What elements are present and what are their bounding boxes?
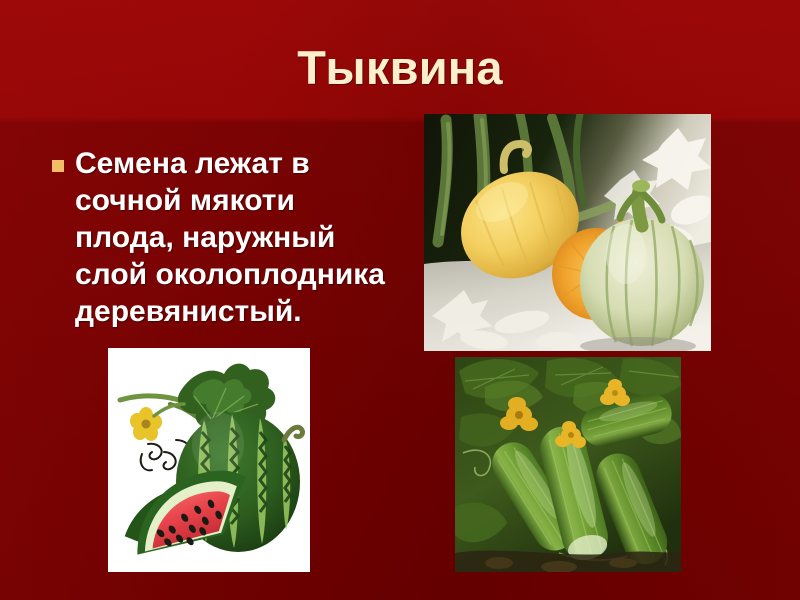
pumpkin-photo-graphic (424, 114, 711, 351)
pumpkin-photo (424, 114, 711, 351)
slide-title: Тыквина (0, 42, 800, 94)
watermelon-illustration-graphic (108, 348, 310, 572)
square-bullet-icon (52, 160, 64, 172)
presentation-slide: Тыквина Семена лежат в сочной мякоти пло… (0, 0, 800, 600)
slide-body: Семена лежат в сочной мякоти плода, нару… (52, 145, 402, 330)
bullet-text: Семена лежат в сочной мякоти плода, нару… (75, 145, 402, 330)
watermelon-illustration (108, 348, 310, 572)
cucumber-photo-graphic (455, 357, 681, 572)
cucumber-photo (455, 357, 681, 572)
list-item: Семена лежат в сочной мякоти плода, нару… (52, 145, 402, 330)
